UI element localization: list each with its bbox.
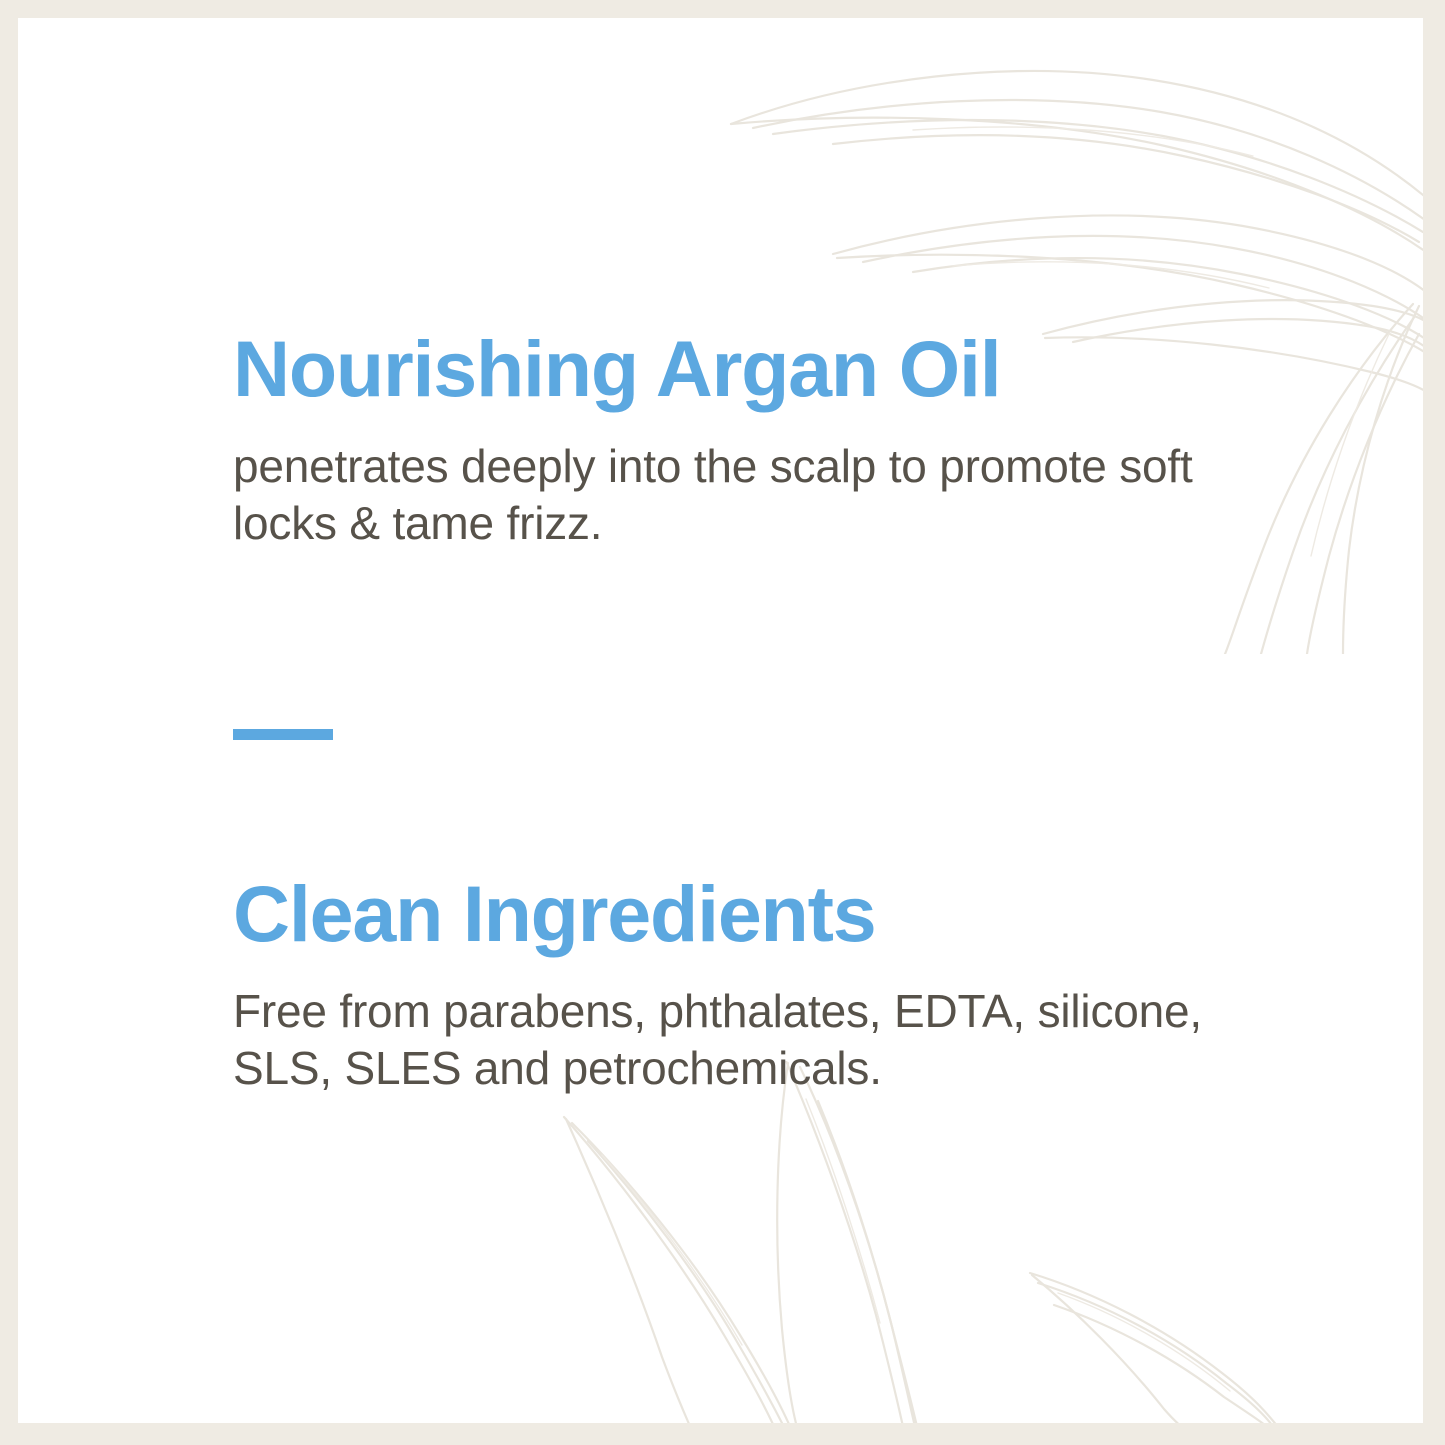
card-inner-surface: Nourishing Argan Oil penetrates deeply i… xyxy=(18,18,1423,1423)
product-feature-card: Nourishing Argan Oil penetrates deeply i… xyxy=(0,0,1445,1445)
section-divider xyxy=(233,729,333,740)
feature-title-argan-oil: Nourishing Argan Oil xyxy=(233,328,1278,410)
leaf-watermark-bottom-group xyxy=(18,18,1423,1423)
feature-title-clean-ingredients: Clean Ingredients xyxy=(233,873,1278,955)
feature-description-argan-oil: penetrates deeply into the scalp to prom… xyxy=(233,410,1268,552)
feature-block-clean-ingredients: Clean Ingredients Free from parabens, ph… xyxy=(233,873,1278,1097)
leaf-watermark-top-right-group xyxy=(18,18,1423,1423)
feature-block-argan-oil: Nourishing Argan Oil penetrates deeply i… xyxy=(233,328,1278,552)
leaf-watermark-icon xyxy=(518,1061,1278,1423)
feature-description-clean-ingredients: Free from parabens, phthalates, EDTA, si… xyxy=(233,955,1268,1097)
